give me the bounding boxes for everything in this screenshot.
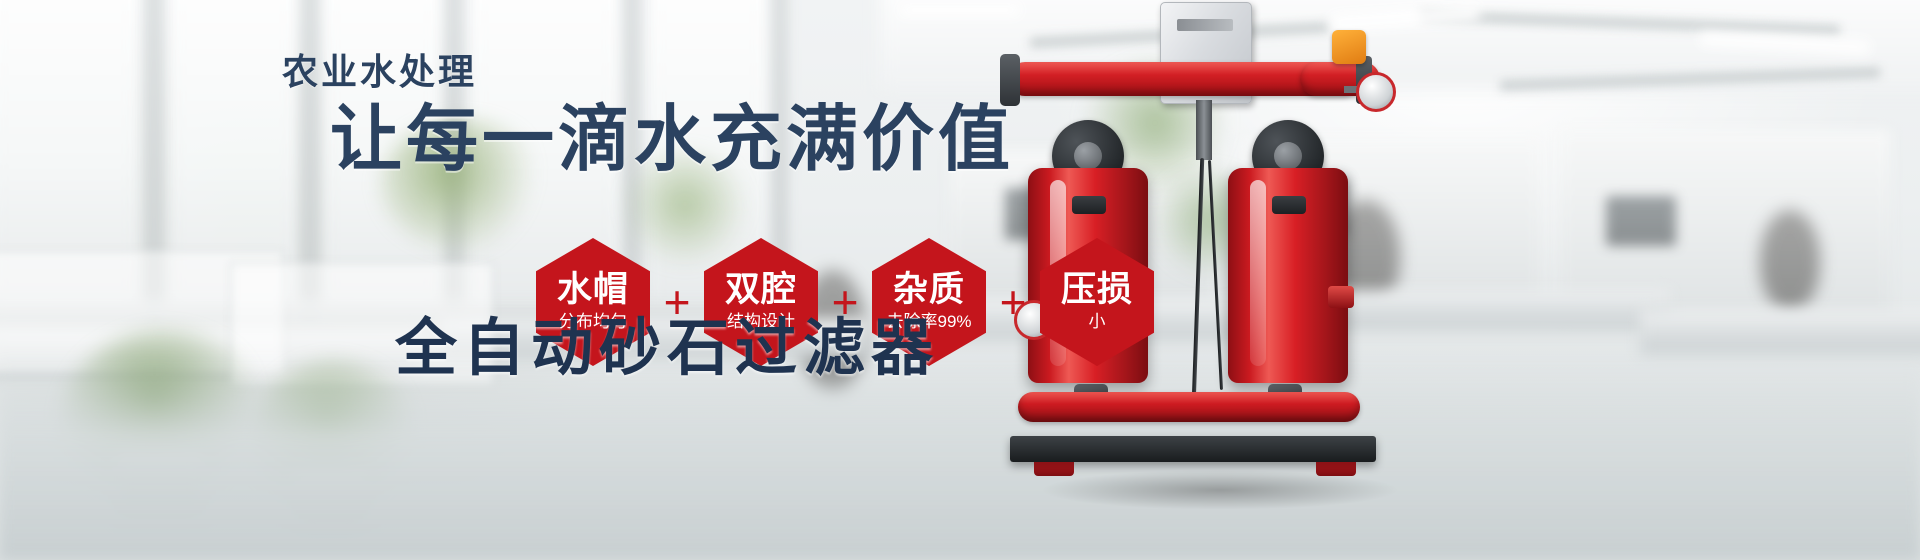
tank-nozzle bbox=[1328, 286, 1354, 308]
air-release-valve-icon bbox=[1332, 30, 1366, 64]
banner-copy: 农业水处理 让每一滴水充满价值 水帽 分布均匀 + 双腔 结构设计 + 杂质 去… bbox=[0, 0, 1100, 560]
office-desk bbox=[1640, 310, 1920, 354]
controller-display bbox=[1177, 19, 1233, 31]
pressure-gauge bbox=[1356, 72, 1396, 112]
headline-text: 让每一滴水充满价值 bbox=[330, 104, 1014, 176]
badge-title: 杂质 bbox=[893, 272, 965, 309]
tank-foot bbox=[1316, 460, 1356, 476]
filter-tank-right bbox=[1228, 168, 1348, 383]
badge-subtitle: 小 bbox=[1089, 312, 1106, 332]
tank-hatch bbox=[1272, 196, 1306, 214]
eyebrow-text: 农业水处理 bbox=[282, 43, 477, 95]
promo-banner: 农业水处理 让每一滴水充满价值 水帽 分布均匀 + 双腔 结构设计 + 杂质 去… bbox=[0, 0, 1920, 560]
control-cable bbox=[1208, 160, 1223, 390]
office-worker bbox=[1760, 210, 1820, 310]
product-name-heading: 全自动砂石过滤器 bbox=[395, 318, 939, 380]
valve-hub bbox=[1274, 142, 1302, 170]
controller-stand bbox=[1196, 100, 1212, 160]
badge-title: 水帽 bbox=[557, 272, 629, 309]
plus-separator-icon: + bbox=[986, 238, 1040, 366]
desk-monitor bbox=[1606, 196, 1676, 246]
badge-title: 压损 bbox=[1061, 272, 1133, 309]
feature-badge-4: 压损 小 bbox=[1040, 238, 1154, 366]
badge-title: 双腔 bbox=[725, 272, 797, 309]
control-cable bbox=[1192, 158, 1205, 402]
tank-highlight bbox=[1250, 180, 1266, 366]
